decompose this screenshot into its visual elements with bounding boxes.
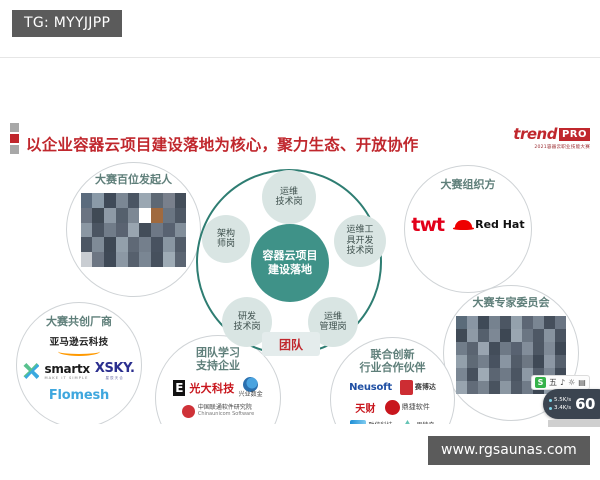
joint-title-line1: 联合创新 — [371, 348, 415, 361]
chinaunicom-row: 中国联通软件研究院 Chinaunicom Software — [182, 405, 254, 418]
core-label-line1: 容器云项目 — [263, 249, 318, 262]
sitech-icon — [400, 420, 414, 424]
group-joint-title: 联合创新 行业合作伙伴 — [340, 349, 445, 375]
satellite-ops-tech-line1: 运维 — [280, 187, 298, 197]
group-co-creation-vendors[interactable]: 大赛共创厂商 亚马逊云科技 smartx MAKE IT SIMPLE XSKY… — [16, 302, 142, 424]
xsky-label: XSKY. — [95, 361, 135, 376]
brand-pro-badge: PRO — [559, 128, 590, 141]
team-chip-label: 团队 — [262, 332, 320, 356]
satellite-architect-line2: 师岗 — [217, 239, 235, 249]
sogou-ime-toolbar[interactable]: S 五 ♪ ☼ ▤ — [531, 375, 590, 390]
group-initiators-title: 大赛百位发起人 — [95, 174, 172, 187]
smartx-label: smartx — [44, 362, 89, 376]
smartx-tagline: MAKE IT SIMPLE — [44, 376, 88, 380]
flomesh-label: Flomesh — [49, 388, 109, 403]
slide-top-divider — [0, 57, 600, 58]
download-dot-icon — [549, 407, 552, 410]
cib-fintech-label: 兴业数金 — [239, 392, 263, 399]
red-hat-label: Red Hat — [475, 218, 525, 231]
red-hat-logo: Red Hat — [455, 218, 525, 231]
satellite-rnd-line2: 技术岗 — [233, 322, 260, 332]
satellite-ops-tool-line1: 运维工 — [346, 225, 373, 235]
group-initiators[interactable]: 大赛百位发起人 — [66, 162, 201, 297]
url-watermark-badge: www.rgsaunas.com — [428, 436, 590, 465]
joint-row-2: 天财 鼎捷软件 — [355, 400, 430, 415]
bullet-square-gray-bottom — [10, 145, 19, 154]
twt-logo: twt — [411, 214, 444, 236]
cib-fintech-icon — [243, 377, 258, 392]
satellite-architect-line1: 架构 — [217, 229, 235, 239]
netspeed-rates: 5.5K/s 3.4K/s — [549, 397, 571, 411]
amazon-smile-icon — [58, 347, 100, 356]
ime-note-icon[interactable]: ♪ — [560, 379, 565, 387]
taskbar-stub — [548, 420, 600, 427]
group-vendors-title: 大赛共创厂商 — [46, 316, 112, 329]
smartx-x-icon — [23, 363, 39, 379]
satellite-ops-mgmt-line1: 运维 — [324, 312, 342, 322]
slide-title: 以企业容器云项目建设落地为核心，聚力生态、开放协作 — [26, 133, 419, 155]
chinaunicom-seal-icon — [182, 405, 195, 418]
sitech-label: 思特奇 — [416, 423, 434, 424]
trendpro-logo: trend PRO 2021容器云职业技能大赛 — [513, 127, 590, 150]
joint-row-3: 融信科技 思特奇 — [350, 420, 434, 424]
satellite-architect[interactable]: 架构 师岗 — [202, 215, 250, 263]
satellite-rnd-line1: 研发 — [238, 312, 256, 322]
upload-dot-icon — [549, 399, 552, 402]
title-bullet-marks — [10, 123, 20, 156]
center-core-node[interactable]: 容器云项目 建设落地 — [251, 224, 329, 302]
chinaunicom-sub: Chinaunicom Software — [198, 412, 254, 418]
brand-subtitle: 2021容器云职业技能大赛 — [513, 144, 590, 150]
vendor-row-2: smartx MAKE IT SIMPLE XSKY. 星辰天合 — [23, 361, 134, 381]
dingjie-icon — [385, 400, 400, 415]
ime-weather-icon[interactable]: ☼ — [568, 379, 575, 387]
xsky-tagline: 星辰天合 — [105, 376, 123, 381]
bullet-square-gray-top — [10, 123, 19, 132]
saibode-icon — [400, 380, 413, 395]
presentation-slide: 以企业容器云项目建设落地为核心，聚力生态、开放协作 trend PRO 2021… — [0, 57, 600, 424]
everbright-cib-row: E 光大科技 兴业数金 — [173, 377, 262, 399]
neusoft-label: Neusoft — [349, 382, 392, 393]
organizers-logo-row: twt Red Hat — [411, 214, 524, 236]
netspeed-download-row: 3.4K/s — [549, 405, 571, 411]
group-learning-title: 团队学习 支持企业 — [168, 347, 268, 373]
joint-title-line2: 行业合作伙伴 — [360, 361, 426, 374]
group-joint-innovation[interactable]: 联合创新 行业合作伙伴 Neusoft 赛博达 天财 鼎捷软件 — [330, 337, 455, 424]
bullet-square-red — [10, 134, 19, 143]
initiators-photo-mosaic — [81, 193, 187, 267]
vendors-logo-stack: 亚马逊云科技 smartx MAKE IT SIMPLE XSKY. 星辰天合 — [23, 334, 134, 403]
satellite-ops-tool-dev[interactable]: 运维工 具开发 技术岗 — [334, 215, 386, 267]
saibode-label: 赛博达 — [415, 384, 436, 392]
group-organizers[interactable]: 大赛组织方 twt Red Hat — [404, 165, 532, 293]
netspeed-upload-value: 5.5K/s — [554, 397, 571, 403]
joint-logo-stack: Neusoft 赛博达 天财 鼎捷软件 融信科技 — [349, 380, 436, 424]
ime-mode-icon[interactable]: 五 — [549, 379, 557, 387]
tiancai-label: 天财 — [355, 400, 376, 415]
flomesh-logo: Flomesh — [49, 388, 109, 403]
group-experts-title: 大赛专家委员会 — [473, 297, 550, 310]
satellite-ops-tech[interactable]: 运维 技术岗 — [262, 170, 316, 224]
core-label-line2: 建设落地 — [268, 263, 312, 276]
learning-title-line1: 团队学习 — [196, 346, 240, 359]
joint-row-1: Neusoft 赛博达 — [349, 380, 436, 395]
aws-china-logo: 亚马逊云科技 — [50, 334, 109, 356]
red-hat-hat-icon — [455, 220, 472, 230]
aws-china-label: 亚马逊云科技 — [50, 334, 109, 348]
netspeed-main-value: 60 — [575, 395, 595, 413]
satellite-ops-tool-line3: 技术岗 — [346, 246, 373, 256]
netspeed-download-value: 3.4K/s — [554, 405, 571, 411]
learning-logo-stack: E 光大科技 兴业数金 中国联通软件研究院 Chinaunicom Softwa… — [171, 377, 266, 424]
slide-stage: TG: MYYJJPP 以企业容器云项目建设落地为核心，聚力生态、开放协作 tr… — [0, 0, 600, 480]
ime-panel-icon[interactable]: ▤ — [578, 379, 586, 387]
everbright-label: 光大科技 — [189, 380, 234, 396]
everbright-e-icon: E — [173, 380, 185, 396]
satellite-ops-tech-line2: 技术岗 — [275, 197, 302, 207]
sogou-ime-logo-icon[interactable]: S — [535, 377, 546, 388]
satellite-ops-tool-line2: 具开发 — [346, 236, 373, 246]
learning-title-line2: 支持企业 — [196, 359, 240, 372]
rongxin-icon — [350, 420, 366, 424]
brand-name-text: trend — [513, 127, 557, 142]
rongxin-label: 融信科技 — [368, 423, 392, 424]
group-organizers-title: 大赛组织方 — [441, 179, 496, 192]
dingjie-label: 鼎捷软件 — [402, 404, 430, 412]
netspeed-upload-row: 5.5K/s — [549, 397, 571, 403]
network-speed-widget[interactable]: 5.5K/s 3.4K/s 60 — [543, 389, 600, 419]
satellite-ops-mgmt-line2: 管理岗 — [319, 322, 346, 332]
tg-watermark-badge: TG: MYYJJPP — [12, 10, 122, 37]
